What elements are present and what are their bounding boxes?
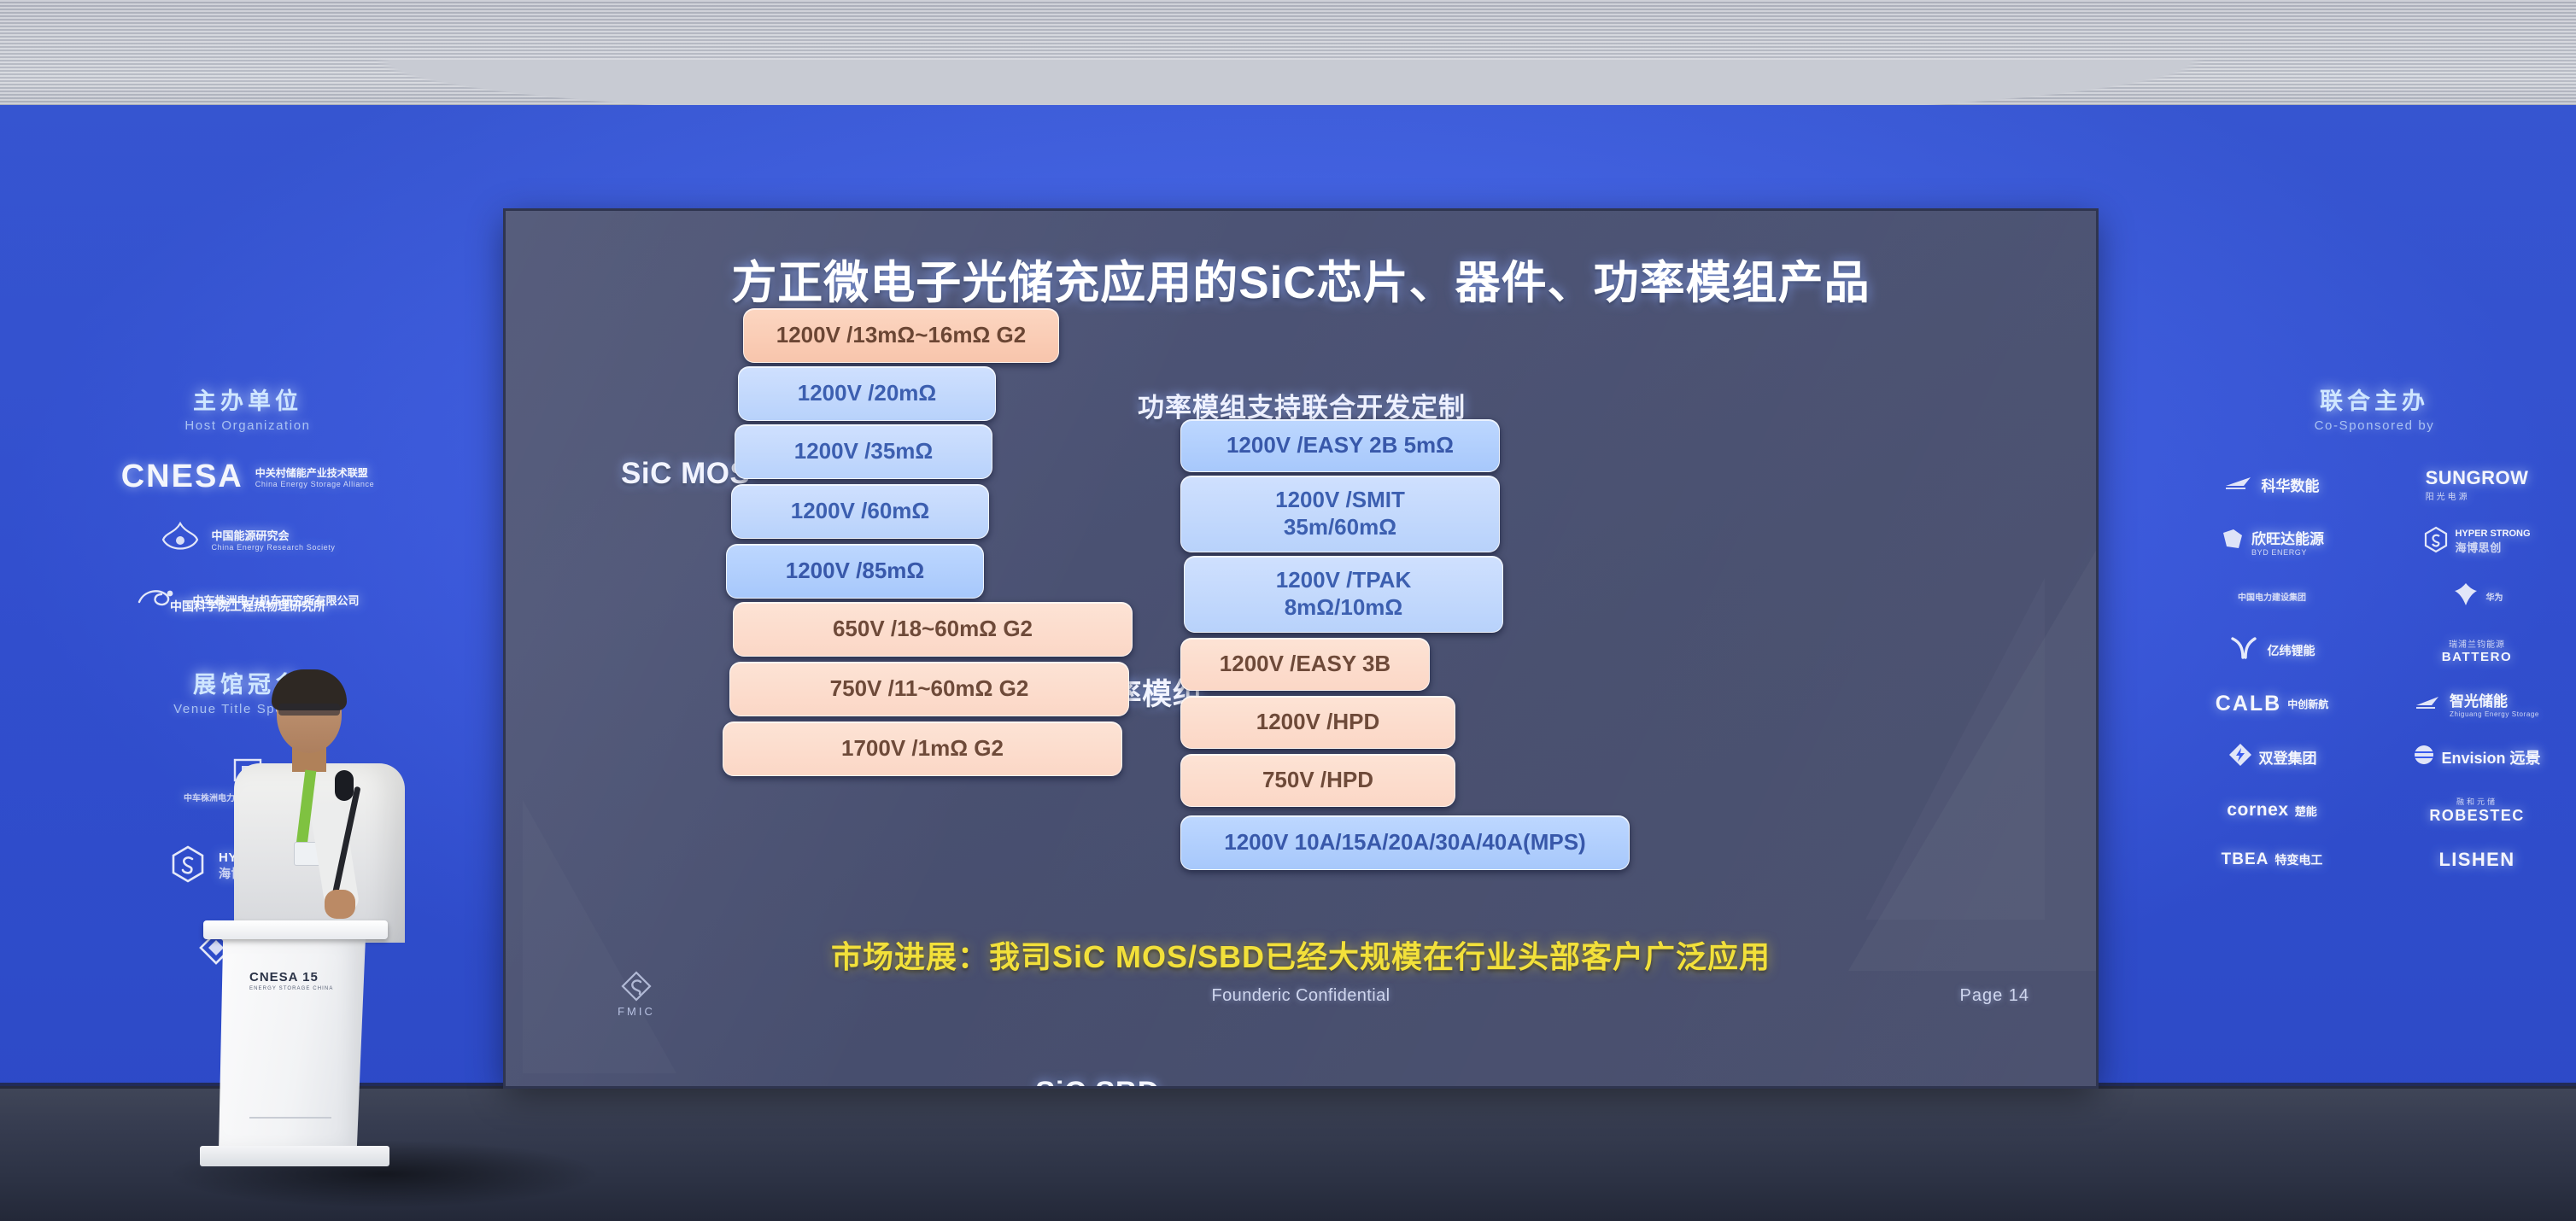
sponsor-envision: Envision 远景 (2441, 746, 2540, 768)
pill-mos-7[interactable]: 1700V /1mΩ G2 (723, 721, 1122, 776)
sponsor-sungrow-name: SUNGROW (2426, 467, 2529, 488)
sponsor-logo: 科华数能 (2174, 467, 2370, 502)
sponsor-logo: LISHEN (2379, 849, 2575, 871)
slide-title: 方正微电子光储充应用的SiC芯片、器件、功率模组产品 (506, 247, 2096, 312)
folded-leaf-icon (2220, 528, 2245, 556)
sponsor-robestec-cn: 融和元储 (2429, 796, 2524, 807)
sponsor-logo: CALB 中创新航 (2174, 689, 2370, 718)
sponsor-cornex-name: cornex (2227, 800, 2288, 821)
sponsor-battero-cn: 瑞浦兰钧能源 (2442, 637, 2513, 650)
logo-iet-cas-alt: 中国科学院工程热物理研究所 (34, 598, 461, 615)
sponsor-byd-en: BYD ENERGY (2251, 548, 2324, 557)
sponsor-lishen-name: LISHEN (2438, 849, 2515, 871)
co-sponsor-subtitle: Co-Sponsored by (2174, 418, 2575, 433)
logo-cers: 中国能源研究会 China Energy Research Society (34, 521, 461, 558)
pill-mos-2[interactable]: 1200V /35mΩ (735, 424, 992, 479)
pill-mos-0[interactable]: 1200V /13mΩ~16mΩ G2 (743, 308, 1059, 363)
sponsor-sungrow: SUNGROW 阳光电源 (2426, 467, 2529, 502)
footer-page-number: Page 14 (1959, 986, 2029, 1006)
sponsor-robestec-name: ROBESTEC (2429, 807, 2524, 824)
sponsor-hyperstrong-name: HYPER STRONG (2455, 529, 2530, 539)
globe-icon (2413, 744, 2435, 770)
co-sponsor-logo-grid: 科华数能 SUNGROW 阳光电源 欣旺达能源 BYD ENERGY HYPER… (2174, 467, 2575, 871)
sponsor-hyperstrong: HYPER STRONG 海博思创 (2455, 529, 2530, 555)
microphone-head (335, 770, 354, 801)
group-label-sic-sbd: SiC SBD (1035, 1076, 1159, 1086)
podium-logo: CNESA 15 ENERGY STORAGE CHINA (249, 970, 333, 991)
podium-top (203, 920, 388, 939)
sponsor-envision-name: Envision (2441, 750, 2505, 767)
pill-module-1[interactable]: 1200V /SMIT 35m/60mΩ (1180, 476, 1500, 552)
sponsor-zhiguang-en: Zhiguang Energy Storage (2450, 710, 2539, 718)
speaker-hand (325, 890, 355, 919)
swoosh-icon (2415, 694, 2444, 714)
sponsor-logo: 智光储能 Zhiguang Energy Storage (2379, 689, 2575, 718)
logo-cers-en-text: China Energy Research Society (212, 543, 336, 552)
sponsor-logo: 双登集团 (2174, 742, 2370, 772)
speaker-person (229, 675, 408, 939)
podium-accent-line (249, 1117, 331, 1119)
logo-iet-cas-text: 中国科学院工程热物理研究所 (170, 598, 325, 615)
swoosh-icon (2225, 476, 2256, 494)
sponsor-byd: 欣旺达能源 BYD ENERGY (2251, 527, 2324, 557)
sponsor-logo: HYPER STRONG 海博思创 (2379, 526, 2575, 558)
sponsor-logo: cornex 楚能 (2174, 796, 2370, 825)
hexagon-s-icon (2423, 526, 2449, 558)
pill-module-2[interactable]: 1200V /TPAK 8mΩ/10mΩ (1184, 556, 1503, 633)
sponsor-battero: 瑞浦兰钧能源 BATTERO (2442, 637, 2513, 664)
footer-confidential: Founderic Confidential (506, 986, 2096, 1006)
pill-mos-3[interactable]: 1200V /60mΩ (731, 484, 989, 539)
sponsor-robestec: 融和元储 ROBESTEC (2429, 796, 2524, 825)
lotus-icon (161, 521, 200, 558)
logo-cnesa-en-text: China Energy Storage Alliance (255, 480, 374, 488)
pill-module-5[interactable]: 750V /HPD (1180, 754, 1455, 807)
pill-mos-5[interactable]: 650V /18~60mΩ G2 (733, 602, 1133, 657)
fmic-logo-text: FMIC (610, 1005, 663, 1018)
sponsor-zhiguang-cn: 智光储能 (2450, 693, 2508, 710)
podium-body: CNESA 15 ENERGY STORAGE CHINA (219, 938, 366, 1151)
host-organization-panel: 主办单位 Host Organization CNESA 中关村储能产业技术联盟… (34, 383, 461, 615)
sponsor-calb-cn: 中创新航 (2287, 697, 2328, 711)
sponsor-tbea-name: TBEA (2222, 850, 2269, 869)
y-mark-icon (2229, 635, 2262, 665)
sponsor-sungrow-cn: 阳光电源 (2426, 489, 2529, 502)
sponsor-kehua: 科华数能 (2262, 474, 2320, 495)
pill-mos-6[interactable]: 750V /11~60mΩ G2 (729, 662, 1129, 716)
sponsor-logo: 亿纬锂能 (2174, 635, 2370, 665)
sponsor-logo: TBEA 特变电工 (2174, 849, 2370, 871)
pill-sbd-0[interactable]: 1200V 10A/15A/20A/30A/40A(MPS) (1180, 815, 1630, 870)
logo-cnesa: CNESA 中关村储能产业技术联盟 China Energy Storage A… (34, 459, 461, 495)
market-progress-note: 市场进展：我司SiC MOS/SBD已经大规模在行业头部客户广泛应用 (506, 932, 2096, 977)
sponsor-logo: SUNGROW 阳光电源 (2379, 467, 2575, 502)
podium-logo-subtext: ENERGY STORAGE CHINA (249, 986, 333, 991)
host-organization-title: 主办单位 (34, 383, 461, 416)
podium: CNESA 15 ENERGY STORAGE CHINA (214, 920, 378, 1168)
pill-module-0[interactable]: 1200V /EASY 2B 5mΩ (1180, 419, 1500, 472)
floor-shadow (85, 1127, 683, 1221)
sponsor-byd-cn: 欣旺达能源 (2251, 531, 2324, 547)
sponsor-logo: Envision 远景 (2379, 742, 2575, 772)
sponsor-logo: 中国电力建设集团 (2174, 581, 2370, 611)
speaker-glasses (278, 704, 340, 716)
sponsor-powerchina: 中国电力建设集团 (2238, 590, 2306, 603)
logo-cers-cn-text: 中国能源研究会 (212, 529, 290, 542)
sponsor-battero-name: BATTERO (2442, 650, 2513, 664)
pill-module-4[interactable]: 1200V /HPD (1180, 696, 1455, 749)
pill-mos-1[interactable]: 1200V /20mΩ (738, 366, 996, 421)
sponsor-calb-name: CALB (2216, 692, 2281, 716)
podium-base (200, 1146, 389, 1166)
sponsor-logo: 融和元储 ROBESTEC (2379, 796, 2575, 825)
pill-mos-4[interactable]: 1200V /85mΩ (726, 544, 984, 599)
logo-cnesa-cn-text: 中关村储能产业技术联盟 (255, 467, 368, 479)
sponsor-huawei: 华为 (2486, 590, 2503, 603)
host-organization-subtitle: Host Organization (34, 418, 461, 433)
sponsor-hyperstrong-cn: 海博思创 (2455, 539, 2530, 555)
sponsor-cornex-cn: 楚能 (2295, 803, 2317, 819)
co-sponsor-panel: 联合主办 Co-Sponsored by 科华数能 SUNGROW 阳光电源 欣… (2174, 383, 2575, 871)
sponsor-logo: 华为 (2379, 581, 2575, 611)
sponsor-logo: 瑞浦兰钧能源 BATTERO (2379, 635, 2575, 665)
co-sponsor-title: 联合主办 (2174, 383, 2575, 416)
logo-cers-cn: 中国能源研究会 China Energy Research Society (212, 527, 336, 552)
group-label-sic-mos: SiC MOS (621, 457, 750, 491)
presentation-screen: 方正微电子光储充应用的SiC芯片、器件、功率模组产品 SiC MOS SiC 功… (506, 211, 2096, 1086)
sponsor-tbea-cn: 特变电工 (2274, 851, 2322, 868)
sponsor-logo: 欣旺达能源 BYD ENERGY (2174, 526, 2370, 558)
sponsor-eve: 亿纬锂能 (2268, 642, 2315, 659)
lightning-diamond-icon (2228, 742, 2253, 772)
sponsor-zhiguang: 智光储能 Zhiguang Energy Storage (2450, 689, 2539, 718)
podium-logo-text: CNESA 15 (249, 970, 319, 984)
conference-hall-scene: 主办单位 Host Organization CNESA 中关村储能产业技术联盟… (0, 0, 2576, 1221)
sponsor-shuangdeng: 双登集团 (2259, 746, 2317, 768)
logo-cnesa-name: CNESA (121, 459, 243, 495)
petal-flower-icon (2451, 581, 2480, 611)
hexagon-s-icon (169, 844, 207, 888)
logo-cnesa-cn: 中关村储能产业技术联盟 China Energy Storage Allianc… (255, 465, 374, 488)
pill-module-3[interactable]: 1200V /EASY 3B (1180, 638, 1430, 691)
sponsor-envision-cn: 远景 (2510, 750, 2541, 767)
